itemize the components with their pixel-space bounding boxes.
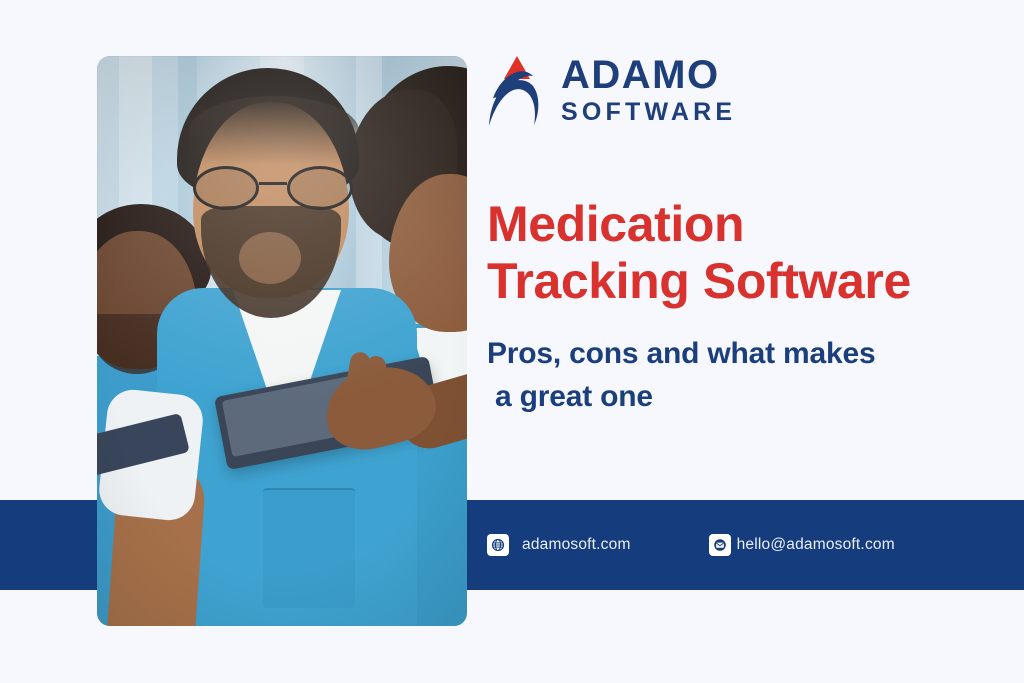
website-contact[interactable]: adamosoft.com [487,534,631,556]
person-center-hair-fade [189,96,359,166]
person-center-pocket [263,488,355,608]
globe-icon [487,534,509,556]
adamo-mountain-swoosh-logo-icon [487,52,545,128]
hero-image-scene [97,56,467,626]
page-title-line-1: Medication [487,196,1024,253]
page-subtitle-line-1: Pros, cons and what makes [487,333,987,376]
brand-name-secondary: SOFTWARE [561,100,736,125]
website-label: adamosoft.com [522,536,631,554]
finger [363,355,386,406]
eyeglasses-lens-right [287,166,353,210]
email-contact[interactable]: hello@adamosoft.com [709,534,895,556]
eyeglasses-lens-left [193,166,259,210]
email-label: hello@adamosoft.com [737,536,895,554]
page-title-line-2: Tracking Software [487,253,1024,310]
brand-name-primary: ADAMO [561,55,736,95]
page-subtitle-line-2: a great one [495,376,987,419]
hero-image [97,56,467,626]
page-title: Medication Tracking Software [487,196,1024,310]
content-column: ADAMO SOFTWARE Medication Tracking Softw… [487,0,1024,500]
eyeglasses-icon [191,166,357,212]
brand-wordmark: ADAMO SOFTWARE [561,55,736,125]
page-subtitle: Pros, cons and what makes a great one [487,333,987,418]
brand-logo: ADAMO SOFTWARE [487,52,736,128]
person-center-chin [239,232,301,284]
envelope-icon [709,534,731,556]
footer-contacts: adamosoft.com hello@adamosoft.com [487,500,895,590]
eyeglasses-bridge [259,182,287,185]
